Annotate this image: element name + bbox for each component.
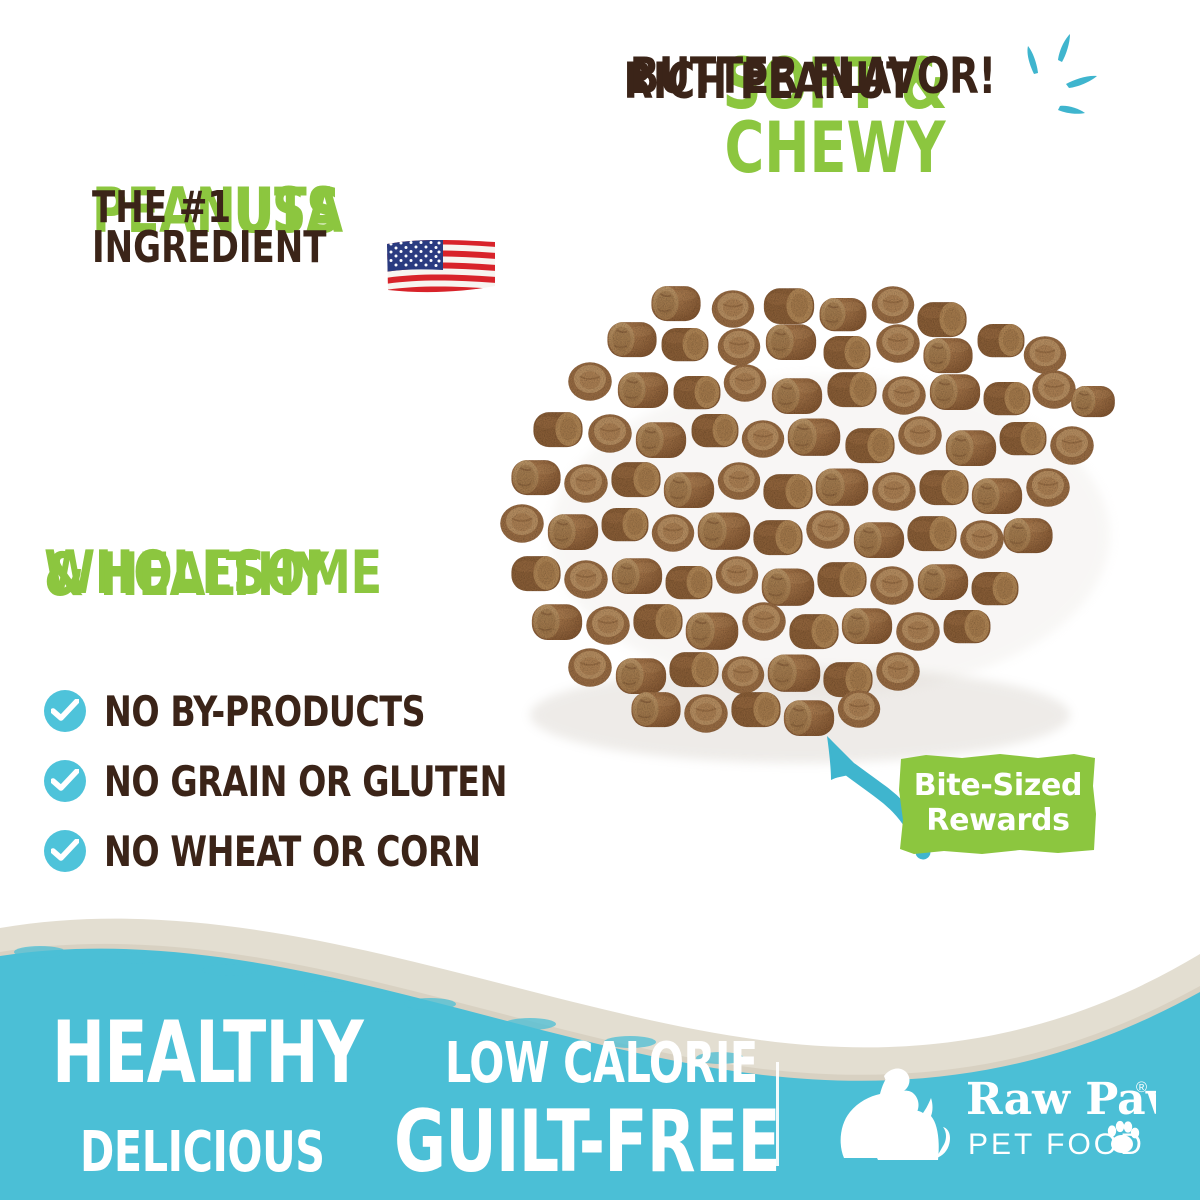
callout-line-2: Rewards xyxy=(926,804,1069,839)
peanut-butter-dog-treats-pile xyxy=(470,275,1120,775)
check-circle-icon xyxy=(44,830,86,872)
check-circle-icon xyxy=(44,690,86,732)
banner-slogan: HEALTHY LOW CALORIE DELICIOUS GUILT-FREE xyxy=(52,1012,772,1183)
check-label: NO GRAIN OR GLUTEN xyxy=(104,757,507,806)
banner-divider xyxy=(776,1062,779,1166)
bite-sized-rewards-callout: Bite-Sized Rewards xyxy=(898,752,1098,856)
banner-low-calorie: LOW CALORIE xyxy=(445,1037,758,1091)
list-item: NO WHEAT OR CORN xyxy=(44,828,604,874)
check-label: NO WHEAT OR CORN xyxy=(104,827,481,876)
banner-guilt-free: GUILT-FREE xyxy=(394,1101,780,1184)
dog-cat-silhouette-icon xyxy=(841,1069,950,1160)
banner-healthy: HEALTHY xyxy=(52,1012,363,1095)
banner-delicious: DELICIOUS xyxy=(80,1126,325,1180)
sparkle-burst-icon xyxy=(1004,28,1114,138)
callout-line-1: Bite-Sized xyxy=(914,769,1082,804)
check-label: NO BY-PRODUCTS xyxy=(104,687,425,736)
registered-mark: ® xyxy=(1136,1079,1147,1096)
product-marketing-graphic: SOFT & CHEWY RICH PEANUT BUTTER FLAVOR! … xyxy=(0,0,1200,1200)
butter-flavor-line: BUTTER FLAVOR! xyxy=(630,53,996,99)
check-circle-icon xyxy=(44,760,86,802)
raw-paws-logo: Raw Paws ® PET FOOD xyxy=(826,1062,1156,1170)
and-healthy-line: & HEALTHY xyxy=(44,548,328,603)
logo-wordmark: Raw Paws xyxy=(966,1074,1156,1125)
